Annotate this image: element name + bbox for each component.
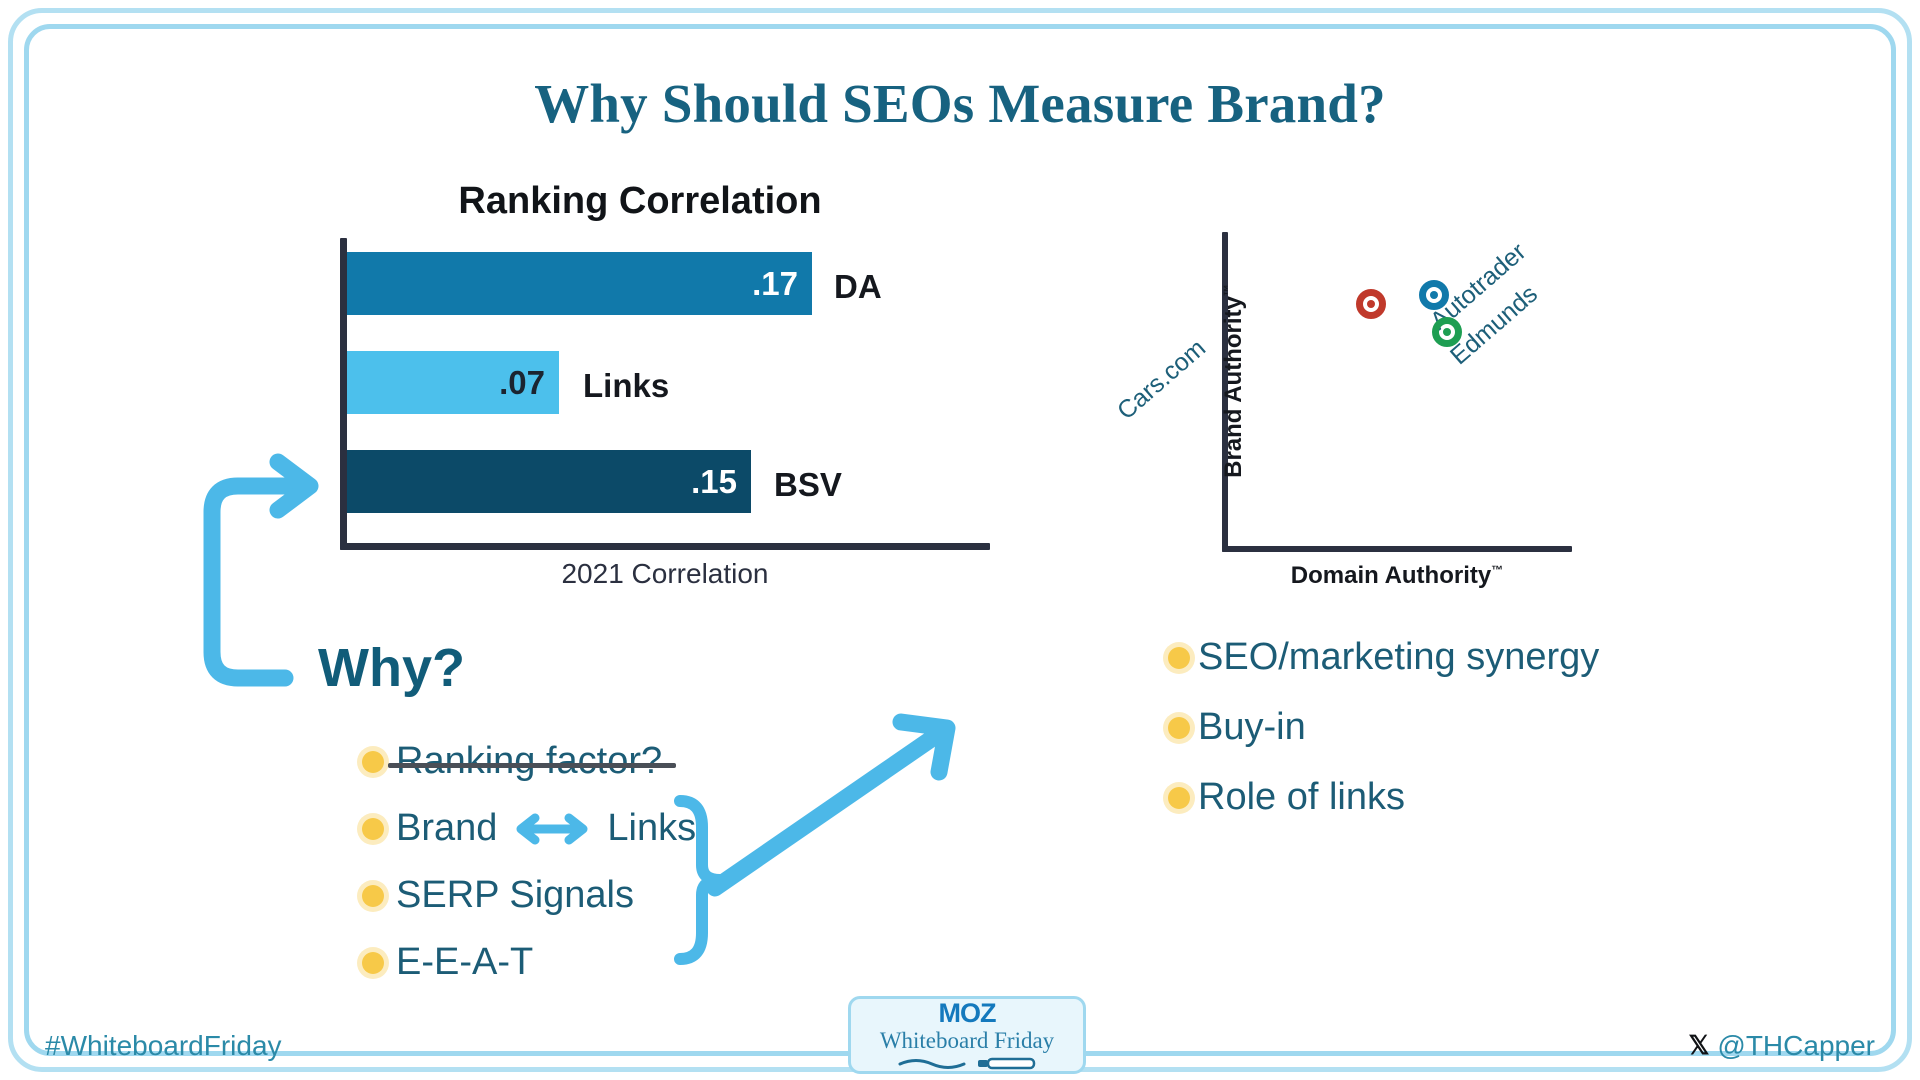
bar-label-bsv: BSV bbox=[774, 466, 842, 504]
bar-value-da: .17 bbox=[752, 265, 812, 303]
list-item: Brand Links bbox=[362, 807, 696, 850]
bar-chart: .17 DA .07 Links .15 BSV bbox=[340, 238, 990, 550]
footer-handle-label: @THCapper bbox=[1717, 1030, 1875, 1062]
list-item-label: Brand bbox=[396, 807, 497, 850]
double-arrow-icon bbox=[509, 812, 595, 846]
scatter-x-label: Domain Authority™ bbox=[1212, 562, 1582, 590]
badge-title: Whiteboard Friday bbox=[880, 1028, 1054, 1053]
bar-chart-x-label: 2021 Correlation bbox=[340, 558, 990, 590]
footer-hashtag: #WhiteboardFriday bbox=[45, 1030, 282, 1062]
bullet-dot-icon bbox=[362, 751, 384, 773]
bar-da: .17 bbox=[347, 252, 812, 315]
footer-social-handle[interactable]: 𝕏 @THCapper bbox=[1688, 1030, 1875, 1062]
scatter-chart: Brand Authority™ Domain Authority™ Cars.… bbox=[1222, 232, 1572, 552]
bar-label-links: Links bbox=[583, 367, 669, 405]
list-item: Ranking factor? bbox=[362, 740, 696, 783]
moz-logo: MOZ bbox=[939, 1000, 996, 1027]
scatter-point-cars bbox=[1356, 289, 1386, 319]
bar-chart-x-axis bbox=[340, 543, 990, 550]
list-item: SEO/marketing synergy bbox=[1168, 636, 1599, 679]
bar-value-bsv: .15 bbox=[691, 463, 751, 501]
trademark-icon: ™ bbox=[1491, 563, 1503, 577]
list-item-label: Role of links bbox=[1198, 776, 1405, 819]
list-item-label: SEO/marketing synergy bbox=[1198, 636, 1599, 679]
list-item: SERP Signals bbox=[362, 874, 696, 917]
benefits-bullet-list: SEO/marketing synergy Buy-in Role of lin… bbox=[1168, 636, 1599, 846]
bar-bsv: .15 bbox=[347, 450, 751, 513]
slide-canvas: Why Should SEOs Measure Brand? Ranking C… bbox=[0, 0, 1920, 1080]
list-item-label: Buy-in bbox=[1198, 706, 1306, 749]
bullet-dot-icon bbox=[1168, 717, 1190, 739]
marker-squiggle-icon bbox=[892, 1056, 1042, 1070]
moz-whiteboard-friday-badge: MOZ Whiteboard Friday bbox=[848, 996, 1086, 1074]
scatter-x-axis bbox=[1222, 546, 1572, 552]
list-item-label: Ranking factor? bbox=[396, 740, 662, 783]
list-item-label: E-E-A-T bbox=[396, 941, 533, 984]
list-item-label: SERP Signals bbox=[396, 874, 634, 917]
x-twitter-icon: 𝕏 bbox=[1688, 1031, 1709, 1061]
why-bullet-list: Ranking factor? Brand Links SERP Signals… bbox=[362, 740, 696, 1008]
bar-links: .07 bbox=[347, 351, 559, 414]
why-heading: Why? bbox=[318, 637, 465, 699]
bullet-dot-icon bbox=[362, 818, 384, 840]
page-title: Why Should SEOs Measure Brand? bbox=[0, 72, 1920, 135]
list-item: Role of links bbox=[1168, 776, 1599, 819]
list-item: Buy-in bbox=[1168, 706, 1599, 749]
bar-value-links: .07 bbox=[499, 364, 559, 402]
scatter-y-label: Brand Authority™ bbox=[1220, 251, 1248, 511]
trademark-icon: ™ bbox=[1221, 284, 1235, 296]
list-item: E-E-A-T bbox=[362, 941, 696, 984]
bar-chart-title: Ranking Correlation bbox=[330, 180, 950, 223]
bullet-dot-icon bbox=[362, 952, 384, 974]
bar-label-da: DA bbox=[834, 268, 882, 306]
bullet-dot-icon bbox=[1168, 647, 1190, 669]
bullet-dot-icon bbox=[1168, 787, 1190, 809]
bullet-dot-icon bbox=[362, 885, 384, 907]
callout-arrow-to-benefits bbox=[705, 650, 1125, 900]
